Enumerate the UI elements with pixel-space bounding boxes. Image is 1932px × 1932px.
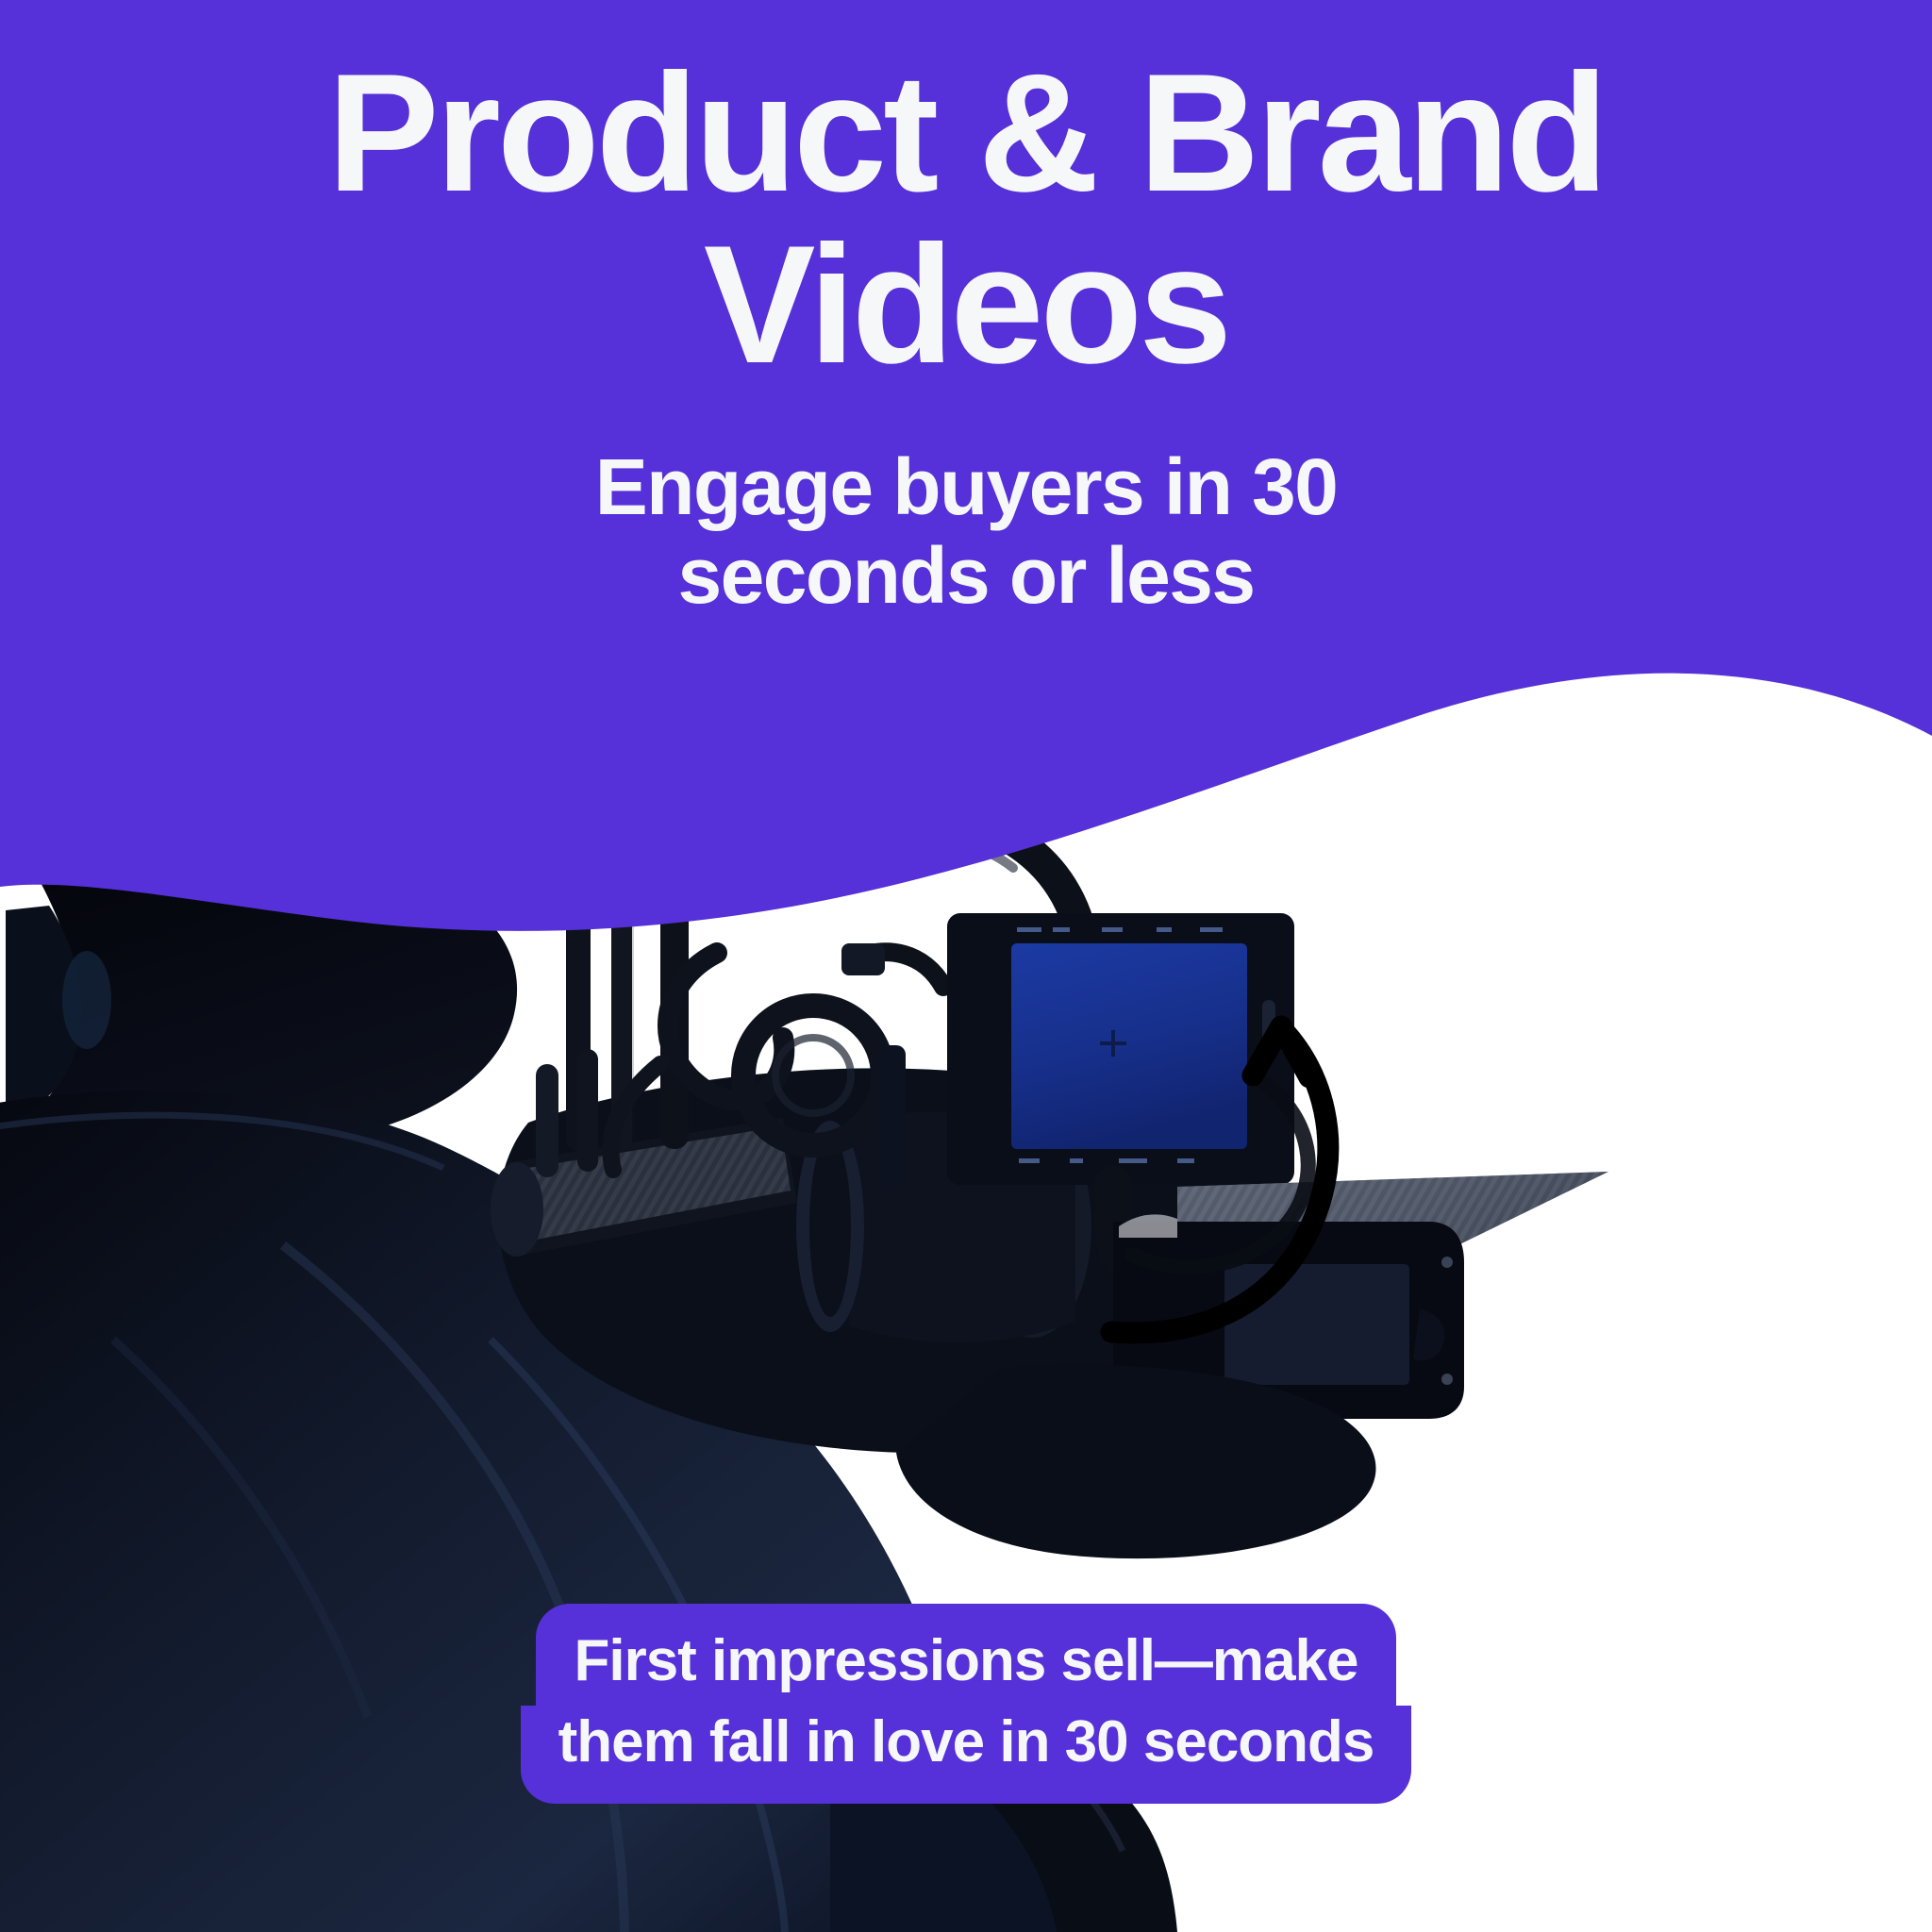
- page-title: Product & Brand Videos: [113, 47, 1819, 390]
- poster-canvas: Product & Brand Videos Engage buyers in …: [0, 0, 1932, 1932]
- tagline-badge: First impressions sell—make them fall in…: [0, 1604, 1932, 1804]
- tagline-badge-line-1: First impressions sell—make: [536, 1604, 1395, 1706]
- headline-block: Product & Brand Videos Engage buyers in …: [0, 47, 1932, 620]
- tagline-badge-line-2: them fall in love in 30 seconds: [521, 1706, 1412, 1804]
- page-subtitle: Engage buyers in 30 seconds or less: [113, 442, 1819, 620]
